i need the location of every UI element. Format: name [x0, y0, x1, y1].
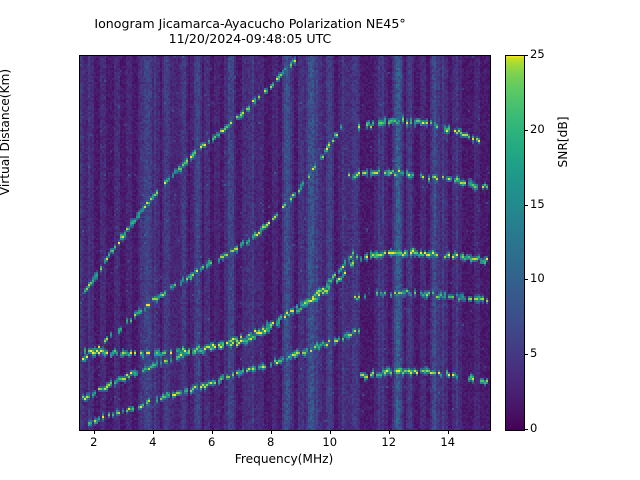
- chart-title: Ionogram Jicamarca-Ayacucho Polarization…: [0, 16, 500, 46]
- x-tick-label: 4: [149, 435, 156, 449]
- colorbar-tick-label: 15: [530, 197, 545, 211]
- colorbar-tick-label: 20: [530, 122, 545, 136]
- ionogram-heatmap: [80, 56, 490, 430]
- x-axis-label: Frequency(MHz): [79, 452, 489, 466]
- x-tick-mark: [271, 430, 272, 434]
- x-tick-label: 8: [267, 435, 274, 449]
- x-tick-label: 12: [381, 435, 396, 449]
- colorbar-tick-label: 0: [530, 421, 537, 435]
- x-tick-label: 2: [90, 435, 97, 449]
- y-axis-label: Virtual Distance(Km): [0, 22, 12, 242]
- x-tick-label: 10: [322, 435, 337, 449]
- colorbar-tick-mark: [524, 55, 528, 56]
- colorbar-tick-label: 25: [530, 47, 545, 61]
- plot-area[interactable]: [79, 55, 491, 431]
- x-tick-mark: [330, 430, 331, 434]
- x-tick-mark: [389, 430, 390, 434]
- ionogram-figure: Ionogram Jicamarca-Ayacucho Polarization…: [0, 0, 640, 480]
- x-tick-label: 14: [440, 435, 455, 449]
- x-tick-mark: [448, 430, 449, 434]
- x-tick-label: 6: [208, 435, 215, 449]
- colorbar-tick-mark: [524, 205, 528, 206]
- colorbar-tick-label: 5: [530, 346, 537, 360]
- x-tick-mark: [94, 430, 95, 434]
- colorbar-tick-mark: [524, 279, 528, 280]
- ionogram-pixel-grid: [80, 56, 490, 430]
- colorbar[interactable]: [505, 55, 525, 431]
- colorbar-tick-mark: [524, 130, 528, 131]
- x-tick-mark: [153, 430, 154, 434]
- colorbar-tick-mark: [524, 354, 528, 355]
- colorbar-label: SNR[dB]: [556, 42, 570, 242]
- colorbar-tick-mark: [524, 429, 528, 430]
- colorbar-tick-label: 10: [530, 271, 545, 285]
- x-tick-mark: [212, 430, 213, 434]
